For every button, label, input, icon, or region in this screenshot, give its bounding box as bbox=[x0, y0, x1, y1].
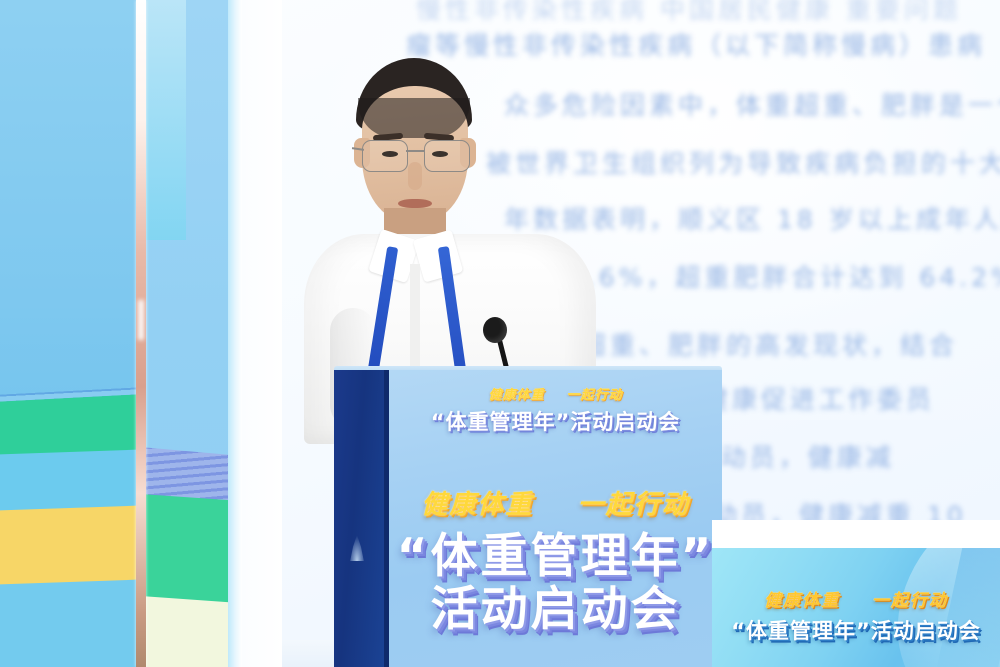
banner-slogan: 健康体重 一起行动 bbox=[712, 586, 1000, 611]
led-band-blue-lower bbox=[0, 579, 136, 667]
led-band-cream bbox=[146, 596, 236, 667]
podium-small-event-title: “体重管理年”活动启动会 bbox=[389, 406, 722, 436]
speaker-mouth bbox=[398, 199, 432, 208]
speaker-nose bbox=[408, 162, 422, 190]
speaker-figure bbox=[300, 58, 600, 398]
led-band-yellow bbox=[0, 505, 136, 589]
podium-small-text-block: 健康体重 一起行动 “体重管理年”活动启动会 bbox=[389, 384, 722, 436]
glasses-bridge bbox=[406, 150, 424, 152]
panel-seam-highlight bbox=[138, 300, 144, 340]
podium-main-title-line2: 活动启动会 bbox=[389, 586, 722, 635]
podium-main-text-block: 健康体重 一起行动 “体重管理年” 活动启动会 bbox=[389, 484, 722, 635]
podium-main-title-line1: “体重管理年” bbox=[389, 533, 722, 582]
speaker-hair-shadow bbox=[358, 98, 470, 138]
podium-main-slogan: 健康体重 一起行动 bbox=[389, 484, 722, 521]
banner-upper-white bbox=[712, 520, 1000, 550]
banner-text-block: 健康体重 一起行动 “体重管理年”活动启动会 bbox=[712, 586, 1000, 645]
podium-side-panel bbox=[334, 370, 388, 667]
backdrop-banner: 健康体重 一起行动 “体重管理年”活动启动会 bbox=[712, 548, 1000, 667]
glasses-lens-left bbox=[362, 140, 408, 172]
led-panel-left bbox=[0, 0, 136, 667]
banner-event-title: “体重管理年”活动启动会 bbox=[712, 615, 1000, 645]
led-edge-glow bbox=[228, 0, 242, 667]
podium-emblem-icon bbox=[348, 535, 366, 561]
glasses-lens-right bbox=[424, 140, 470, 172]
podium-small-slogan: 健康体重 一起行动 bbox=[389, 384, 722, 403]
microphone-head bbox=[483, 317, 507, 343]
screenshot-stage: 慢性非传染性疾病 中国居民健康 重要问题 瘤等慢性非传染性疾病（以下简称慢病）患… bbox=[0, 0, 1000, 667]
led-band-green bbox=[146, 494, 236, 612]
podium: 健康体重 一起行动 “体重管理年”活动启动会 健康体重 一起行动 “体重管理年”… bbox=[334, 366, 722, 667]
led-band-cyan bbox=[146, 0, 186, 240]
wall-strip bbox=[242, 0, 282, 667]
led-panel-second bbox=[146, 0, 236, 667]
